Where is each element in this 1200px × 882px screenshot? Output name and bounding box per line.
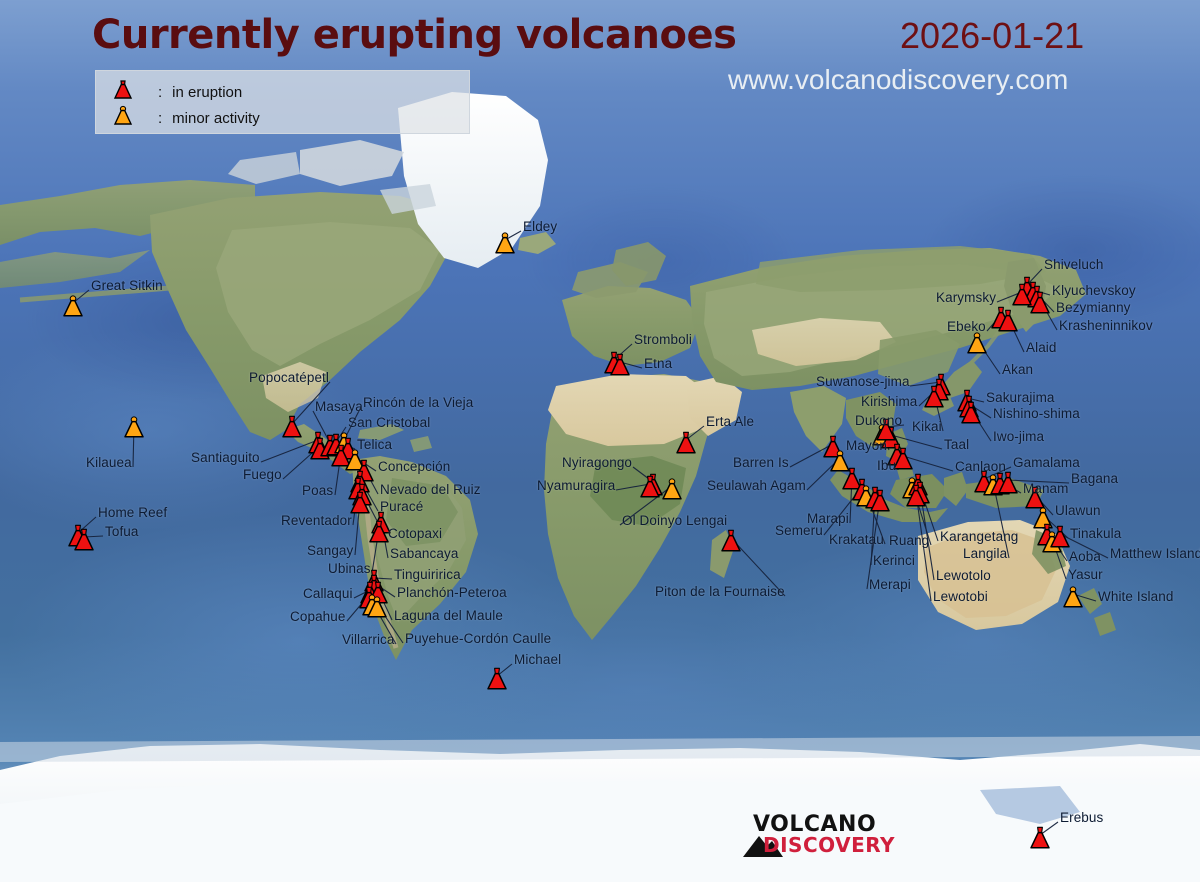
volcano-marker-erta-ale[interactable] <box>672 431 700 455</box>
volcano-label-bezymianny: Bezymianny <box>1056 300 1131 315</box>
volcano-label-etna: Etna <box>644 356 672 371</box>
volcano-red-icon <box>110 79 136 105</box>
volcano-marker-white-island[interactable] <box>1059 585 1087 609</box>
volcano-label-villarrica: Villarrica <box>342 632 395 647</box>
volcano-label-stromboli: Stromboli <box>634 332 692 347</box>
volcano-label-barren-is: Barren Is <box>733 455 789 470</box>
volcano-label-popocat-petl: Popocatépetl <box>249 370 329 385</box>
page-title: Currently erupting volcanoes <box>92 12 736 58</box>
volcano-label-langila: Langila <box>963 546 1007 561</box>
volcano-label-cotopaxi: Cotopaxi <box>388 526 442 541</box>
volcano-label-merapi: Merapi <box>869 577 911 592</box>
volcano-label-sakurajima: Sakurajima <box>986 390 1055 405</box>
volcano-marker-great-sitkin[interactable] <box>59 294 87 318</box>
volcano-marker-tofua[interactable] <box>70 528 98 552</box>
volcano-label-taal: Taal <box>944 437 969 452</box>
volcano-marker-lewotobi[interactable] <box>902 484 930 508</box>
volcano-label-iwo-jima: Iwo-jima <box>993 429 1044 444</box>
volcano-label-akan: Akan <box>1002 362 1033 377</box>
volcano-label-krasheninnikov: Krasheninnikov <box>1059 318 1153 333</box>
volcano-label-purac: Puracé <box>380 499 423 514</box>
volcano-label-san-cristobal: San Cristobal <box>348 415 430 430</box>
volcano-label-ulawun: Ulawun <box>1055 503 1101 518</box>
volcano-label-bagana: Bagana <box>1071 471 1118 486</box>
volcano-label-rinc-n-de-la-vieja: Rincón de la Vieja <box>363 395 473 410</box>
volcano-label-dukono: Dukono <box>855 413 902 428</box>
volcano-marker-etna[interactable] <box>606 353 634 377</box>
volcano-orange-icon <box>110 105 136 131</box>
legend-separator: : <box>158 84 162 101</box>
volcano-marker-kikai[interactable] <box>920 385 948 409</box>
volcano-label-planch-n-peteroa: Planchón-Peteroa <box>397 585 507 600</box>
volcano-label-nyamuragira: Nyamuragira <box>537 478 615 493</box>
volcano-label-puyehue-cord-n-caulle: Puyehue-Cordón Caulle <box>405 631 551 646</box>
volcano-label-kikai: Kikai <box>912 419 942 434</box>
legend-label-in-eruption: in eruption <box>172 84 242 101</box>
volcano-marker-erebus[interactable] <box>1026 826 1054 850</box>
volcano-label-klyuchevskoy: Klyuchevskoy <box>1052 283 1136 298</box>
volcano-label-mayon: Mayon <box>846 438 887 453</box>
volcano-label-manam: Manam <box>1023 481 1069 496</box>
logo-text-discovery: DISCOVERY <box>763 833 895 857</box>
volcano-label-callaqui: Callaqui <box>303 586 353 601</box>
volcano-label-santiaguito: Santiaguito <box>191 450 260 465</box>
volcano-marker-karymsky[interactable] <box>1008 283 1036 307</box>
volcano-marker-eldey[interactable] <box>491 231 519 255</box>
volcano-label-canlaon: Canlaon <box>955 459 1006 474</box>
map-date: 2026-01-21 <box>900 15 1084 57</box>
volcano-marker-kilauea[interactable] <box>120 415 148 439</box>
volcano-label-yasur: Yasur <box>1068 567 1103 582</box>
volcano-label-ibu: Ibu <box>877 458 896 473</box>
volcano-label-masaya: Masaya <box>315 399 363 414</box>
volcano-marker-ol-doinyo-lengai[interactable] <box>658 477 686 501</box>
volcano-label-kilauea: Kilauea <box>86 455 132 470</box>
volcano-label-reventador: Reventador <box>281 513 352 528</box>
legend-box: : in eruption : minor activity <box>95 70 470 134</box>
volcano-label-nishino-shima: Nishino-shima <box>993 406 1080 421</box>
website-watermark: www.volcanodiscovery.com <box>728 64 1068 96</box>
volcano-label-piton-de-la-fournaise: Piton de la Fournaise <box>655 584 785 599</box>
volcano-marker-iwo-jima[interactable] <box>957 401 985 425</box>
volcano-label-tofua: Tofua <box>105 524 139 539</box>
volcano-label-telica: Telica <box>357 437 392 452</box>
volcano-label-lewotobi: Lewotobi <box>933 589 988 604</box>
volcano-label-ubinas: Ubinas <box>328 561 371 576</box>
volcano-label-home-reef: Home Reef <box>98 505 167 520</box>
volcano-marker-michael[interactable] <box>483 667 511 691</box>
volcano-label-fuego: Fuego <box>243 467 282 482</box>
volcano-label-tinakula: Tinakula <box>1070 526 1121 541</box>
legend-separator: : <box>158 110 162 127</box>
legend-item-minor-activity: : minor activity <box>110 105 260 131</box>
volcano-label-semeru: Semeru <box>775 523 823 538</box>
volcano-marker-merapi[interactable] <box>866 489 894 513</box>
volcano-label-ruang: Ruang <box>889 533 929 548</box>
volcano-label-kirishima: Kirishima <box>861 394 917 409</box>
volcano-label-eldey: Eldey <box>523 219 557 234</box>
volcano-label-concepci-n: Concepción <box>378 459 450 474</box>
volcanodiscovery-logo: VOLCANO DISCOVERY <box>735 812 895 860</box>
legend-label-minor-activity: minor activity <box>172 110 260 127</box>
volcano-label-nevado-del-ruiz: Nevado del Ruiz <box>380 482 481 497</box>
volcano-marker-bagana[interactable] <box>994 471 1022 495</box>
volcano-marker-alaid[interactable] <box>994 309 1022 333</box>
volcano-label-seulawah-agam: Seulawah Agam <box>707 478 806 493</box>
volcano-label-michael: Michael <box>514 652 561 667</box>
volcano-label-shiveluch: Shiveluch <box>1044 257 1103 272</box>
volcano-label-laguna-del-maule: Laguna del Maule <box>394 608 503 623</box>
volcano-marker-puyehue-cord-n-caulle[interactable] <box>363 595 391 619</box>
volcano-label-sangay: Sangay <box>307 543 353 558</box>
volcano-label-ebeko: Ebeko <box>947 319 986 334</box>
volcano-label-erta-ale: Erta Ale <box>706 414 754 429</box>
legend-item-in-eruption: : in eruption <box>110 79 242 105</box>
volcano-label-nyiragongo: Nyiragongo <box>562 455 632 470</box>
volcano-label-white-island: White Island <box>1098 589 1173 604</box>
volcano-label-alaid: Alaid <box>1026 340 1057 355</box>
volcano-label-krakatau: Krakatau <box>829 532 884 547</box>
volcano-marker-akan[interactable] <box>963 331 991 355</box>
volcano-label-erebus: Erebus <box>1060 810 1103 825</box>
volcano-label-sabancaya: Sabancaya <box>390 546 458 561</box>
volcano-label-great-sitkin: Great Sitkin <box>91 278 163 293</box>
volcano-label-matthew-island: Matthew Island <box>1110 546 1200 561</box>
volcano-label-suwanose-jima: Suwanose-jima <box>816 374 910 389</box>
volcano-world-map: Currently erupting volcanoes 2026-01-21 … <box>0 0 1200 882</box>
volcano-marker-popocat-petl[interactable] <box>278 415 306 439</box>
volcano-label-kerinci: Kerinci <box>873 553 915 568</box>
volcano-label-lewotolo: Lewotolo <box>936 568 991 583</box>
volcano-marker-piton-de-la-fournaise[interactable] <box>717 529 745 553</box>
volcano-label-ol-doinyo-lengai: Ol Doinyo Lengai <box>622 513 727 528</box>
volcano-label-karangetang: Karangetang <box>940 529 1018 544</box>
volcano-label-aoba: Aoba <box>1069 549 1101 564</box>
volcano-label-copahue: Copahue <box>290 609 346 624</box>
volcano-label-karymsky: Karymsky <box>936 290 996 305</box>
volcano-label-tinguiririca: Tinguiririca <box>394 567 461 582</box>
volcano-label-gamalama: Gamalama <box>1013 455 1080 470</box>
volcano-label-poas: Poas <box>302 483 333 498</box>
